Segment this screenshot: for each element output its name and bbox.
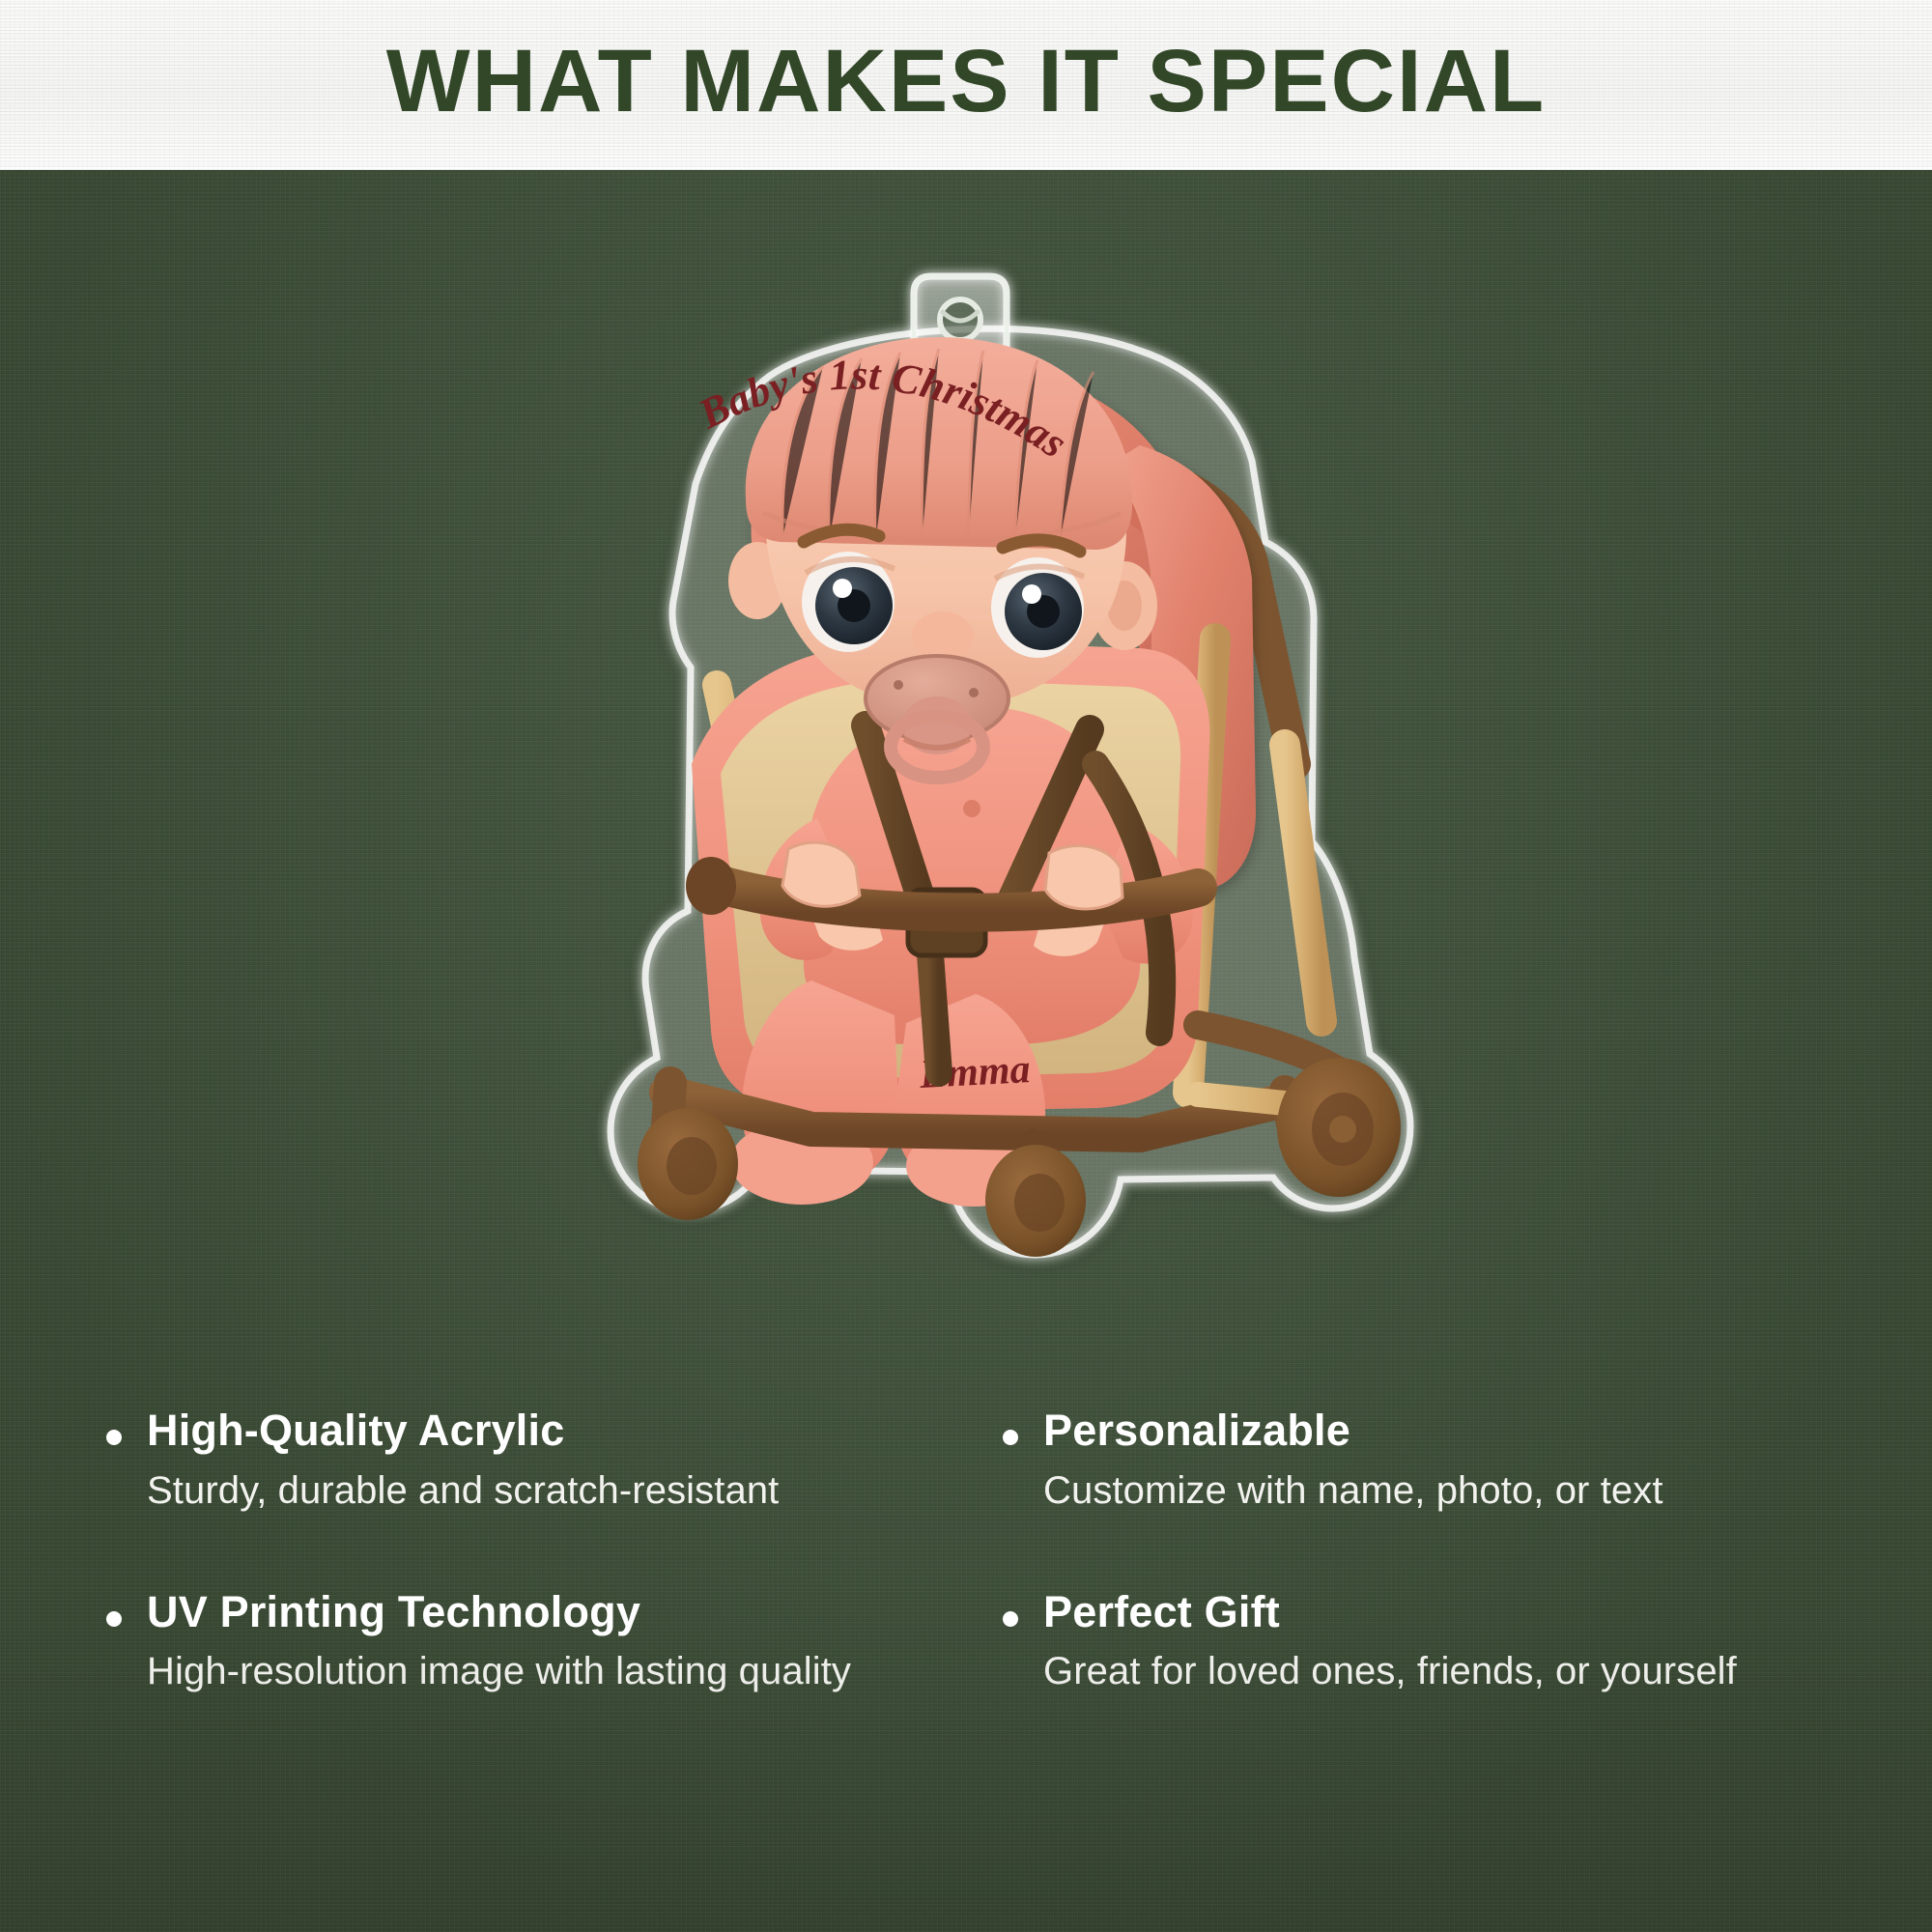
bullet-icon — [1003, 1430, 1018, 1445]
feature-uv-printing-technology: UV Printing Technology High-resolution i… — [93, 1588, 947, 1694]
bullet-icon — [1003, 1611, 1018, 1627]
product-canvas: Emma — [0, 170, 1932, 1932]
feature-perfect-gift: Perfect Gift Great for loved ones, frien… — [985, 1588, 1839, 1694]
bullet-icon — [106, 1430, 122, 1445]
feature-description: Sturdy, durable and scratch-resistant — [147, 1468, 947, 1513]
feature-title: UV Printing Technology — [147, 1588, 947, 1636]
feature-title: Personalizable — [1043, 1406, 1839, 1455]
feature-description: Customize with name, photo, or text — [1043, 1468, 1839, 1513]
feature-description: Great for loved ones, friends, or yourse… — [1043, 1649, 1839, 1693]
feature-title: High-Quality Acrylic — [147, 1406, 947, 1455]
feature-personalizable: Personalizable Customize with name, phot… — [985, 1406, 1839, 1513]
bullet-icon — [106, 1611, 122, 1627]
feature-title: Perfect Gift — [1043, 1588, 1839, 1636]
feature-description: High-resolution image with lasting quali… — [147, 1649, 947, 1693]
feature-high-quality-acrylic: High-Quality Acrylic Sturdy, durable and… — [93, 1406, 947, 1513]
features-grid: High-Quality Acrylic Sturdy, durable and… — [0, 1406, 1932, 1693]
product-feature-card: WHAT MAKES IT SPECIAL — [0, 0, 1932, 1932]
acrylic-ornament-image: Emma — [522, 223, 1526, 1334]
page-title: WHAT MAKES IT SPECIAL — [386, 37, 1547, 126]
header-band: WHAT MAKES IT SPECIAL — [0, 0, 1932, 170]
